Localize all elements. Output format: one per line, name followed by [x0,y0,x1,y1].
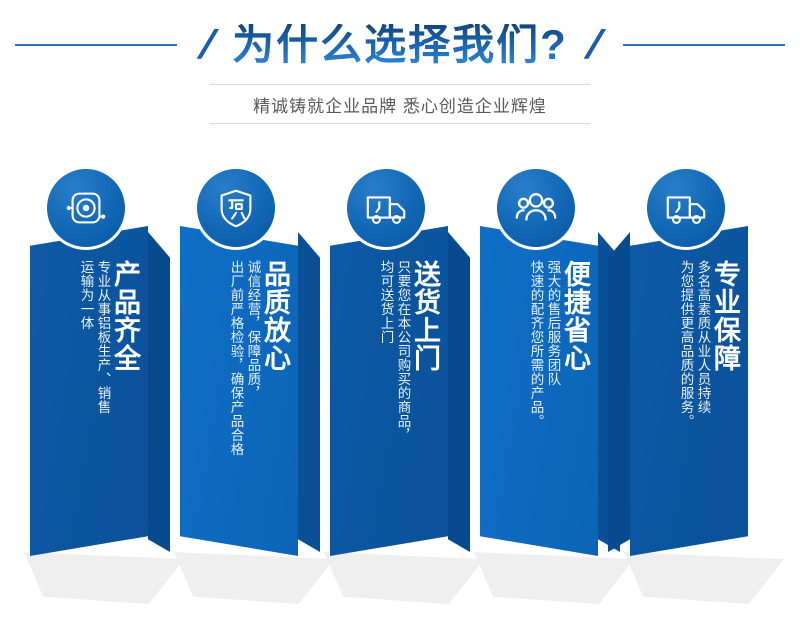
feature-panel-4[interactable]: 便捷省心 强大的售后服务团队 快速的配齐您所需的产品。 [480,160,630,580]
title-rule-right [623,44,785,46]
why-choose-us-section: / 为什么选择我们? / 精诚铸就企业品牌 悉心创造企业辉煌 [0,0,800,640]
subtitle-container: 精诚铸就企业品牌 悉心创造企业辉煌 [210,84,590,124]
panel-face [630,226,748,556]
slash-right: / [578,25,610,65]
feature-panel-1[interactable]: 产品齐全 专业从事铝板生产、销售 运输为一体 [30,160,180,580]
title-row: / 为什么选择我们? / [0,16,800,74]
shield-quality-icon [194,166,278,250]
panel-fold [448,232,470,552]
title-rule-left [15,44,177,46]
feature-panel-2[interactable]: 品质放心 诚信经营，保障品质， 出厂前严格检验，确保产品合格 [180,160,330,580]
panel-shadow [474,552,634,604]
section-subtitle: 精诚铸就企业品牌 悉心创造企业辉煌 [220,92,580,117]
panel-shadow [24,552,184,604]
panel-shadow [174,552,334,604]
people-group-icon [494,166,578,250]
panel-fold [608,232,630,552]
panel-fold [298,232,320,552]
panel-face [480,226,598,556]
page-title: 为什么选择我们? [218,24,582,66]
safe-vault-icon [44,166,128,250]
panel-shadow [324,552,484,604]
panel-face [30,226,148,556]
panel-face [180,226,298,556]
feature-panel-list: 产品齐全 专业从事铝板生产、销售 运输为一体 [0,160,800,640]
panel-fold [148,232,170,552]
feature-panel-3[interactable]: 送货上门 只要您在本公司购买的商品， 均可送货上门 [330,160,480,580]
delivery-truck-icon [344,166,428,250]
feature-panel-5[interactable]: 专业保障 多名高素质从业人员持续 为您提供更高品质的服务。 [630,160,780,580]
section-header: / 为什么选择我们? / 精诚铸就企业品牌 悉心创造企业辉煌 [0,0,800,150]
panel-face [330,226,448,556]
delivery-truck-icon [644,166,728,250]
panel-shadow [624,552,784,604]
